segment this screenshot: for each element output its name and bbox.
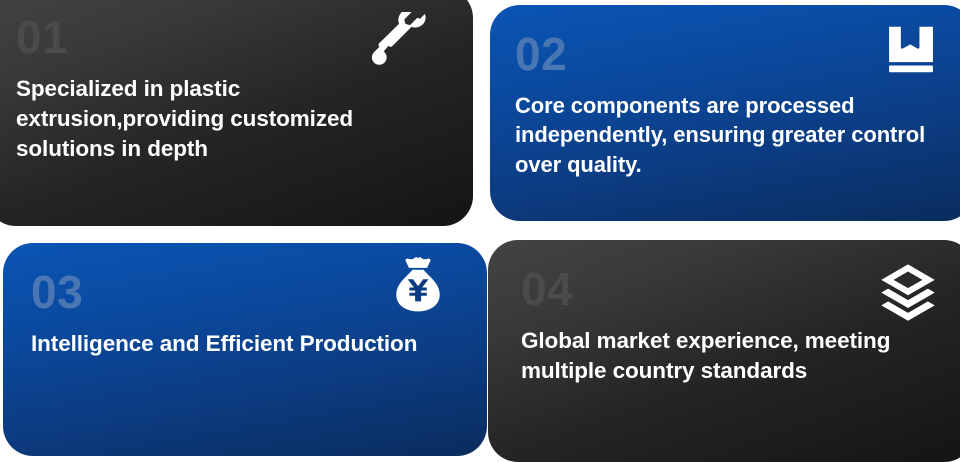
card-text-04: Global market experience, meeting multip… [521,326,911,386]
card-number-02: 02 [515,31,946,77]
card-number-03: 03 [31,269,459,315]
feature-card-01[interactable]: 01 Specialized in plastic extrusion,prov… [0,0,473,226]
card-number-04: 04 [521,266,946,312]
card-number-01: 01 [16,14,445,60]
feature-card-04[interactable]: 04 Global market experience, meeting mul… [488,240,960,462]
card-text-02: Core components are processed independen… [515,91,946,179]
feature-card-02[interactable]: 02 Core components are processed indepen… [490,5,960,221]
card-text-01: Specialized in plastic extrusion,providi… [16,74,436,164]
feature-card-grid: 01 Specialized in plastic extrusion,prov… [0,0,960,459]
card-text-03: Intelligence and Efficient Production [31,329,431,359]
feature-card-03[interactable]: 03 Intelligence and Efficient Production [3,243,487,456]
